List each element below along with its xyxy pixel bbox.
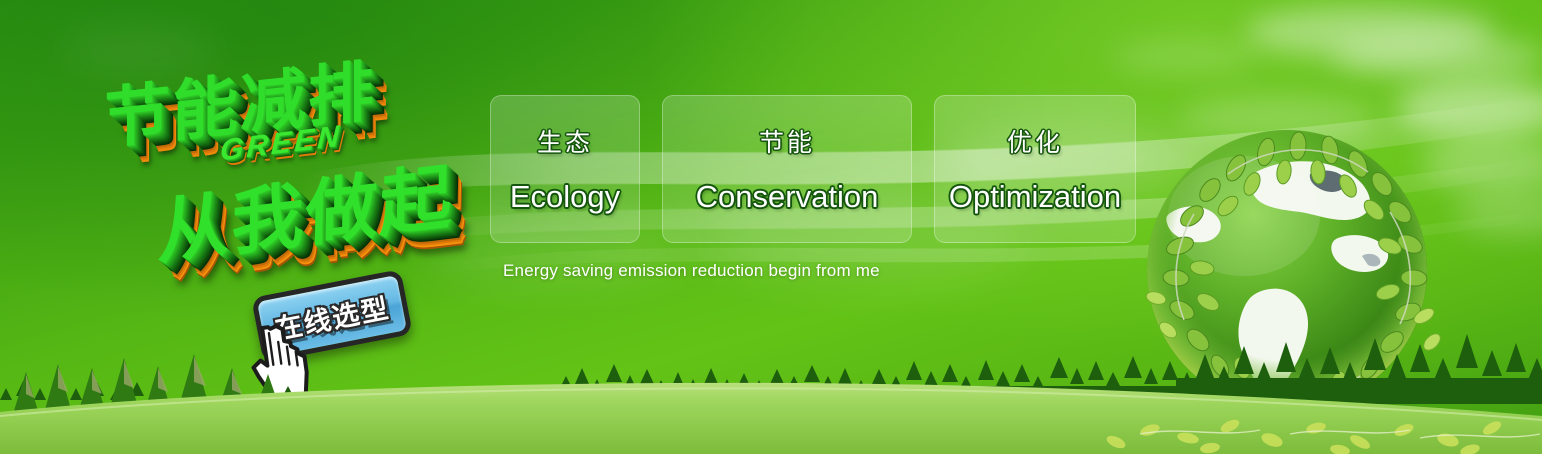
cloud-shape — [1330, 36, 1542, 78]
feature-card-optimization[interactable]: 优化 Optimization — [934, 95, 1136, 243]
cloud-shape — [1245, 6, 1495, 58]
feature-card-en-label: Conservation — [696, 179, 879, 215]
feature-card-en-label: Optimization — [949, 179, 1121, 215]
cloud-shape — [1455, 190, 1542, 236]
eco-promo-banner: 节能减排 GREEN 从我做起 在线选型 生态 Ecology 节能 Conse… — [0, 0, 1542, 454]
landscape-foreground — [0, 334, 1542, 454]
feature-card-en-label: Ecology — [510, 179, 620, 215]
feature-card-conservation[interactable]: 节能 Conservation — [662, 95, 912, 243]
cloud-shape — [1110, 40, 1260, 74]
feature-card-cn-label: 生态 — [537, 123, 593, 159]
banner-tagline: Energy saving emission reduction begin f… — [503, 261, 880, 281]
feature-card-ecology[interactable]: 生态 Ecology — [490, 95, 640, 243]
headline-bottom-line: 从我做起 — [157, 137, 455, 278]
headline-3d-art: 节能减排 GREEN 从我做起 — [88, 24, 503, 286]
feature-card-cn-label: 节能 — [759, 123, 815, 159]
feature-card-cn-label: 优化 — [1007, 123, 1063, 159]
feature-card-list: 生态 Ecology 节能 Conservation 优化 Optimizati… — [490, 95, 1136, 243]
